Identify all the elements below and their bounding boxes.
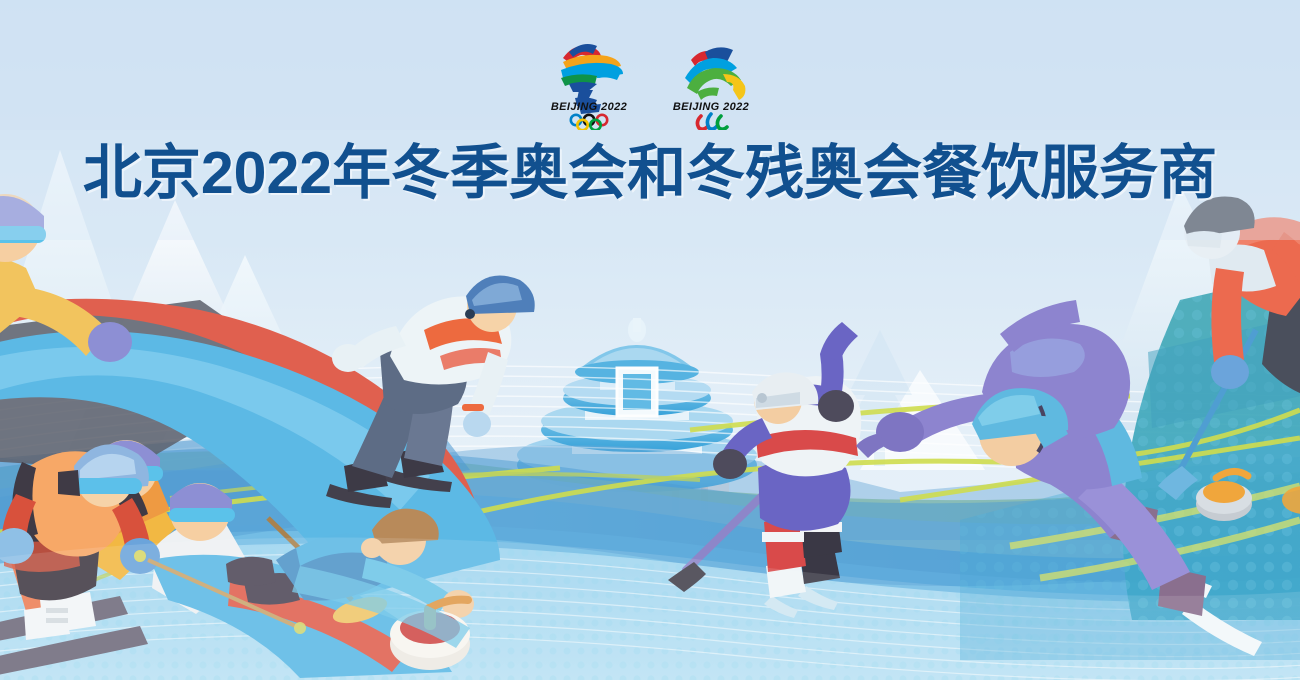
winter-sports-illustration: [0, 0, 1300, 680]
olympic-banner: BEIJING 2022: [0, 0, 1300, 680]
title-container: 北京2022年冬季奥会和冬残奥会餐饮服务商: [0, 143, 1300, 205]
page-title: 北京2022年冬季奥会和冬残奥会餐饮服务商: [83, 143, 1217, 205]
